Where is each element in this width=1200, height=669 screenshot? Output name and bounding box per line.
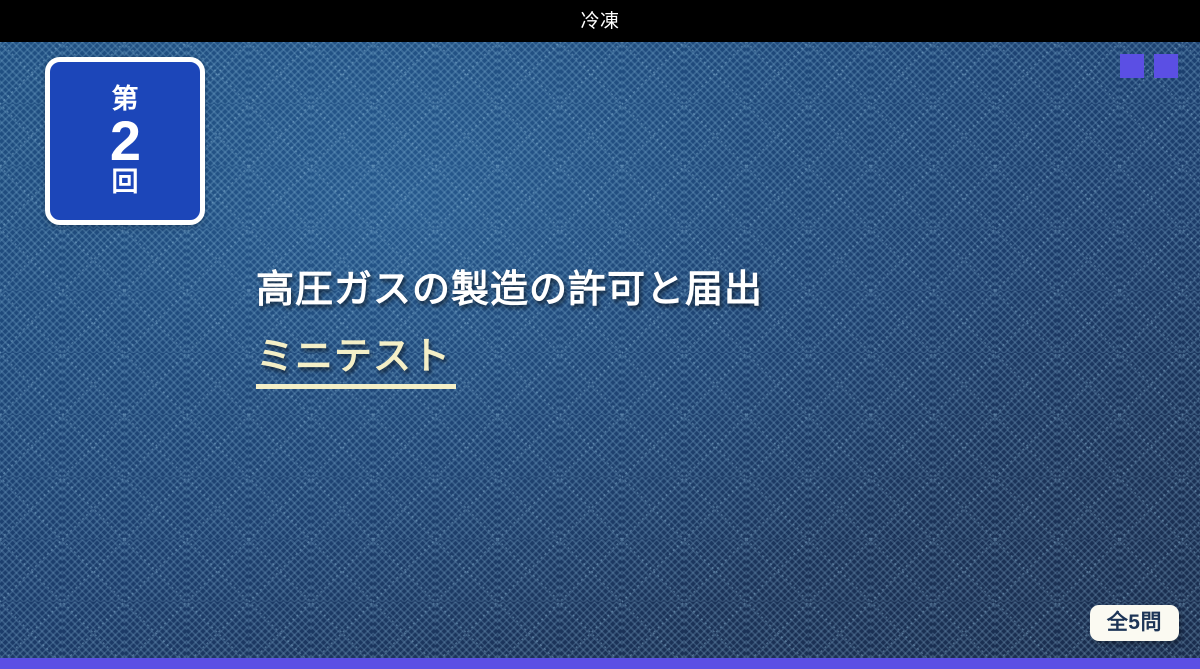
question-count-label: 全5問 (1107, 611, 1162, 634)
slide-screen: 冷凍 第 2 回 高圧ガスの製造の許可と (0, 0, 1200, 669)
bottom-accent-strip (0, 658, 1200, 669)
slide-stage: 第 2 回 高圧ガスの製造の許可と届出 ミニテスト 全5問 (0, 42, 1200, 669)
round-badge-suffix: 回 (112, 169, 139, 196)
slide-subtitle: ミニテスト (256, 335, 456, 380)
top-bar-title: 冷凍 (580, 12, 619, 31)
deco-square-2-icon (1154, 54, 1178, 78)
round-badge-number: 2 (110, 114, 140, 167)
question-count-badge: 全5問 (1090, 605, 1179, 641)
slide-subtitle-wrapper: ミニテスト (256, 335, 456, 389)
deco-square-1-icon (1120, 54, 1144, 78)
decorative-squares-group (1120, 54, 1178, 78)
top-title-bar: 冷凍 (0, 0, 1200, 42)
title-block: 高圧ガスの製造の許可と届出 ミニテスト (256, 267, 1076, 389)
slide-main-title: 高圧ガスの製造の許可と届出 (256, 267, 1076, 313)
subtitle-underline (256, 384, 456, 389)
round-number-badge: 第 2 回 (45, 57, 205, 225)
